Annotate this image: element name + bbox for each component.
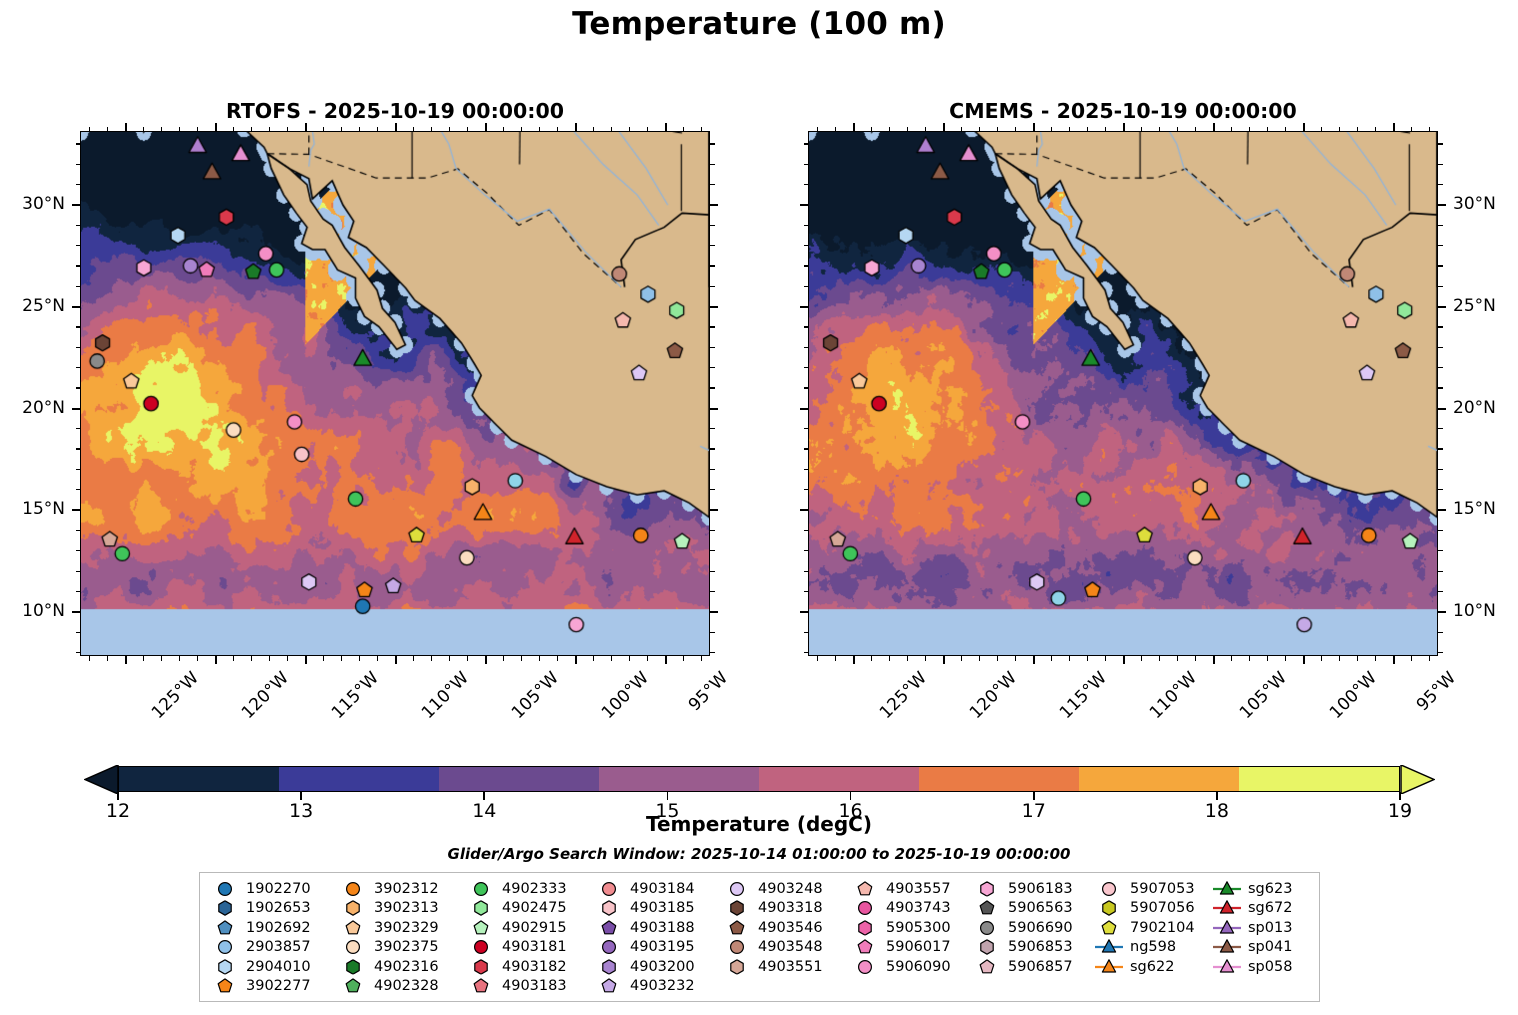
y-tick-minor	[804, 143, 809, 144]
legend-item[interactable]: sp058	[1210, 957, 1308, 977]
y-tick-minor	[710, 387, 715, 388]
y-tick-minor	[710, 448, 715, 449]
legend-item[interactable]: 3902277	[208, 977, 336, 997]
x-tick-minor	[251, 656, 252, 661]
y-tick-minor	[710, 469, 715, 470]
x-tick-minor	[413, 127, 414, 132]
x-tick-minor	[161, 127, 162, 132]
y-tick-minor	[804, 652, 809, 653]
x-tick-minor	[557, 127, 558, 132]
y-tick-minor	[710, 245, 715, 246]
map-cmems[interactable]	[808, 131, 1438, 656]
legend-item[interactable]: 4903548	[720, 938, 848, 958]
legend-item-label: 4903557	[882, 881, 951, 897]
y-tick-minor	[804, 367, 809, 368]
legend-item[interactable]: 4902915	[464, 918, 592, 938]
legend-item-label: 4903183	[498, 978, 567, 994]
x-tick-minor	[1267, 127, 1268, 132]
y-tick-minor	[1438, 428, 1443, 429]
legend-item[interactable]: 2903857	[208, 938, 336, 958]
colorbar-band-3	[599, 767, 759, 791]
legend-item[interactable]: 5906853	[970, 938, 1092, 958]
colorbar-tick	[1399, 792, 1401, 800]
legend-item-label: 4903185	[626, 900, 695, 916]
legend-item[interactable]: 5906563	[970, 899, 1092, 919]
x-tick-minor	[377, 656, 378, 661]
y-tick-major	[72, 204, 80, 206]
circle-marker-icon	[464, 879, 498, 898]
x-tick-minor	[197, 656, 198, 661]
x-tick-minor	[1141, 127, 1142, 132]
legend-item[interactable]: 4903551	[720, 957, 848, 977]
legend-item-label: 5907056	[1126, 900, 1195, 916]
y-tick-major	[1438, 306, 1446, 308]
pentagon-marker-icon	[464, 977, 498, 996]
circle-marker-icon	[848, 957, 882, 976]
circle-marker-icon	[336, 938, 370, 957]
x-tick-major	[575, 123, 577, 131]
hexagon-marker-icon	[720, 957, 754, 976]
legend-item[interactable]: 2904010	[208, 957, 336, 977]
x-tick-minor	[539, 656, 540, 661]
y-tick-minor	[1438, 489, 1443, 490]
y-tick-label: 25°N	[1453, 296, 1518, 316]
x-tick-minor	[1141, 656, 1142, 661]
legend-column-6: 59061835906563590669059068535906857	[970, 879, 1092, 996]
x-tick-minor	[701, 656, 702, 661]
y-tick-minor	[804, 164, 809, 165]
x-tick-major	[395, 123, 397, 131]
x-tick-minor	[889, 127, 890, 132]
y-tick-minor	[1438, 164, 1443, 165]
x-tick-major	[1123, 656, 1125, 664]
hexagon-marker-icon	[848, 918, 882, 937]
legend-item-label: 4902316	[370, 959, 439, 975]
x-tick-minor	[817, 656, 818, 661]
legend-item[interactable]: 5906690	[970, 918, 1092, 938]
x-tick-label: 125°W	[148, 668, 203, 723]
x-tick-minor	[1105, 656, 1106, 661]
colorbar-band-1	[279, 767, 439, 791]
triangle-marker-icon	[1210, 918, 1244, 937]
y-tick-minor	[76, 652, 81, 653]
y-tick-major	[1438, 611, 1446, 613]
y-tick-major	[800, 306, 808, 308]
legend-item[interactable]: 1902692	[208, 918, 336, 938]
x-tick-minor	[1105, 127, 1106, 132]
colorbar-band-7	[1239, 767, 1399, 791]
legend-item[interactable]: 5907056	[1092, 899, 1210, 919]
legend-item-label: 4903181	[498, 939, 567, 955]
x-tick-minor	[89, 127, 90, 132]
y-tick-minor	[1438, 286, 1443, 287]
y-tick-major	[1438, 408, 1446, 410]
x-tick-minor	[1195, 656, 1196, 661]
x-tick-label: 95°W	[1413, 668, 1460, 715]
y-tick-minor	[1438, 184, 1443, 185]
triangle-marker-icon	[1210, 957, 1244, 976]
x-tick-minor	[467, 656, 468, 661]
y-tick-minor	[804, 571, 809, 572]
x-tick-minor	[521, 127, 522, 132]
circle-marker-icon	[208, 938, 242, 957]
y-tick-minor	[1438, 550, 1443, 551]
pentagon-marker-icon	[336, 977, 370, 996]
y-tick-minor	[710, 428, 715, 429]
y-tick-minor	[1438, 265, 1443, 266]
x-tick-major	[853, 656, 855, 664]
legend-item-label: 5905300	[882, 920, 951, 936]
legend-item-label: 4902333	[498, 881, 567, 897]
y-tick-minor	[804, 428, 809, 429]
x-tick-minor	[1249, 127, 1250, 132]
y-tick-minor	[1438, 530, 1443, 531]
legend-item[interactable]: sg672	[1210, 899, 1308, 919]
x-tick-minor	[143, 127, 144, 132]
legend-item[interactable]: 4903318	[720, 899, 848, 919]
pentagon-marker-icon	[848, 879, 882, 898]
legend-column-0: 1902270190265319026922903857290401039022…	[208, 879, 336, 996]
legend-item-label: 5906183	[1004, 881, 1073, 897]
legend-item[interactable]: 4902328	[336, 977, 464, 997]
y-tick-minor	[76, 530, 81, 531]
y-tick-major	[72, 306, 80, 308]
y-tick-minor	[710, 347, 715, 348]
legend-item[interactable]: 4903188	[592, 918, 720, 938]
x-tick-minor	[835, 127, 836, 132]
colorbar-tick	[300, 792, 302, 800]
map-rtofs[interactable]	[80, 131, 710, 656]
x-tick-minor	[521, 656, 522, 661]
x-tick-minor	[889, 656, 890, 661]
x-tick-minor	[1087, 127, 1088, 132]
x-tick-major	[215, 656, 217, 664]
legend-item-label: sg623	[1244, 881, 1292, 897]
legend-item-label: sg622	[1126, 959, 1174, 975]
legend-item-label: 4902475	[498, 900, 567, 916]
x-tick-minor	[1159, 127, 1160, 132]
colorbar-bands	[118, 766, 1400, 792]
legend-column-2: 4902333490247549029154903181490318249031…	[464, 879, 592, 996]
x-tick-minor	[1195, 127, 1196, 132]
x-tick-minor	[1375, 656, 1376, 661]
x-tick-major	[215, 123, 217, 131]
legend-item-label: 3902329	[370, 920, 439, 936]
legend-item-label: 5906853	[1004, 939, 1073, 955]
hexagon-marker-icon	[1092, 899, 1126, 918]
x-tick-major	[1393, 656, 1395, 664]
legend-item[interactable]: 4902475	[464, 899, 592, 919]
y-tick-minor	[1438, 632, 1443, 633]
legend-item-label: 1902692	[242, 920, 311, 936]
x-tick-minor	[1177, 656, 1178, 661]
legend-item[interactable]: 3902313	[336, 899, 464, 919]
x-tick-minor	[1411, 127, 1412, 132]
y-tick-minor	[710, 571, 715, 572]
x-tick-label: 110°W	[418, 668, 473, 723]
legend-item[interactable]: 5906017	[848, 938, 970, 958]
hexagon-marker-icon	[208, 957, 242, 976]
legend-item[interactable]: sg623	[1210, 879, 1308, 899]
map-panel-cmems: CMEMS - 2025-10-19 00:00:00 125°W120°W11…	[808, 131, 1438, 656]
x-tick-minor	[979, 127, 980, 132]
legend-item[interactable]: 4902316	[336, 957, 464, 977]
x-tick-minor	[503, 127, 504, 132]
y-tick-minor	[710, 225, 715, 226]
y-tick-major	[72, 611, 80, 613]
hexagon-marker-icon	[592, 957, 626, 976]
y-tick-minor	[710, 164, 715, 165]
x-tick-minor	[323, 656, 324, 661]
x-tick-major	[1033, 123, 1035, 131]
x-tick-minor	[449, 656, 450, 661]
y-tick-label: 10°N	[1453, 601, 1518, 621]
y-tick-minor	[76, 225, 81, 226]
search-window-text: Glider/Argo Search Window: 2025-10-14 01…	[0, 845, 1518, 863]
x-tick-major	[1123, 123, 1125, 131]
y-tick-major	[800, 611, 808, 613]
x-tick-minor	[961, 656, 962, 661]
legend-item[interactable]: sp041	[1210, 938, 1308, 958]
y-tick-major	[710, 306, 718, 308]
x-tick-minor	[907, 127, 908, 132]
panel-title-rtofs: RTOFS - 2025-10-19 00:00:00	[80, 99, 710, 123]
y-tick-minor	[710, 143, 715, 144]
colorbar-band-2	[439, 767, 599, 791]
x-tick-minor	[431, 656, 432, 661]
x-tick-minor	[557, 656, 558, 661]
legend-item[interactable]: 4903185	[592, 899, 720, 919]
triangle-marker-icon	[1210, 899, 1244, 918]
legend-item[interactable]: 3902312	[336, 879, 464, 899]
legend-item-label: 2903857	[242, 939, 311, 955]
x-tick-minor	[341, 127, 342, 132]
legend-item-label: sp058	[1244, 959, 1292, 975]
x-tick-major	[125, 656, 127, 664]
legend-item[interactable]: 4903184	[592, 879, 720, 899]
x-tick-minor	[1429, 656, 1430, 661]
y-tick-minor	[710, 265, 715, 266]
y-tick-minor	[804, 448, 809, 449]
y-tick-major	[72, 509, 80, 511]
legend-item-label: 2904010	[242, 959, 311, 975]
pentagon-marker-icon	[848, 938, 882, 957]
legend-item[interactable]: 5905300	[848, 918, 970, 938]
pentagon-marker-icon	[720, 918, 754, 937]
legend-item[interactable]: 1902653	[208, 899, 336, 919]
y-tick-label: 20°N	[0, 398, 65, 418]
x-tick-minor	[503, 656, 504, 661]
circle-marker-icon	[720, 879, 754, 898]
legend-item[interactable]: sp013	[1210, 918, 1308, 938]
y-tick-minor	[804, 347, 809, 348]
y-tick-label: 10°N	[0, 601, 65, 621]
legend-item[interactable]: 4903181	[464, 938, 592, 958]
x-tick-major	[1303, 656, 1305, 664]
y-tick-minor	[710, 489, 715, 490]
pentagon-marker-icon	[464, 918, 498, 937]
legend-item[interactable]: 4903743	[848, 899, 970, 919]
legend-item-label: 4903200	[626, 959, 695, 975]
hexagon-marker-icon	[592, 899, 626, 918]
x-tick-minor	[1429, 127, 1430, 132]
legend-item-label: sp013	[1244, 920, 1292, 936]
x-tick-major	[665, 656, 667, 664]
legend-column-5: 49035574903743590530059060175906090	[848, 879, 970, 996]
y-tick-minor	[76, 632, 81, 633]
y-tick-major	[72, 408, 80, 410]
y-tick-minor	[804, 387, 809, 388]
legend-item[interactable]: 3902375	[336, 938, 464, 958]
colorbar-tick	[850, 792, 852, 800]
x-tick-minor	[611, 127, 612, 132]
legend-item[interactable]: 4903183	[464, 977, 592, 997]
x-tick-label: 100°W	[598, 668, 653, 723]
legend-item[interactable]: 4903557	[848, 879, 970, 899]
y-tick-minor	[804, 326, 809, 327]
y-tick-minor	[76, 591, 81, 592]
hexagon-marker-icon	[336, 957, 370, 976]
y-tick-minor	[710, 286, 715, 287]
x-tick-minor	[1411, 656, 1412, 661]
legend-item[interactable]: 4903182	[464, 957, 592, 977]
legend-item-label: 3902312	[370, 881, 439, 897]
y-tick-minor	[804, 225, 809, 226]
y-tick-minor	[76, 367, 81, 368]
y-tick-minor	[76, 164, 81, 165]
y-tick-minor	[710, 652, 715, 653]
triangle-marker-icon	[1210, 879, 1244, 898]
x-tick-major	[1303, 123, 1305, 131]
legend-item[interactable]: 4902333	[464, 879, 592, 899]
pentagon-marker-icon	[592, 918, 626, 937]
x-tick-minor	[701, 127, 702, 132]
legend-item-label: 4903232	[626, 978, 695, 994]
x-tick-minor	[997, 127, 998, 132]
legend-item[interactable]: sg622	[1092, 957, 1210, 977]
x-tick-label: 120°W	[238, 668, 293, 723]
x-tick-minor	[961, 127, 962, 132]
x-tick-minor	[629, 656, 630, 661]
legend-item[interactable]: 4903200	[592, 957, 720, 977]
y-tick-minor	[804, 591, 809, 592]
legend-item[interactable]: 3902329	[336, 918, 464, 938]
x-tick-minor	[1177, 127, 1178, 132]
x-tick-minor	[251, 127, 252, 132]
x-tick-minor	[143, 656, 144, 661]
colorbar-tick	[483, 792, 485, 800]
y-tick-minor	[76, 245, 81, 246]
colorbar[interactable]	[118, 766, 1400, 792]
y-tick-label: 25°N	[0, 296, 65, 316]
legend-item-label: 4903551	[754, 959, 823, 975]
x-tick-major	[1213, 656, 1215, 664]
x-tick-label: 100°W	[1326, 668, 1381, 723]
legend-item[interactable]: 5906090	[848, 957, 970, 977]
x-tick-label: 110°W	[1146, 668, 1201, 723]
legend-item[interactable]: ng598	[1092, 938, 1210, 958]
x-tick-minor	[593, 656, 594, 661]
x-tick-minor	[179, 656, 180, 661]
legend-item-label: 5906563	[1004, 900, 1073, 916]
x-tick-minor	[107, 656, 108, 661]
legend-item[interactable]: 1902270	[208, 879, 336, 899]
y-tick-label: 15°N	[1453, 499, 1518, 519]
x-tick-label: 95°W	[685, 668, 732, 715]
y-tick-major	[800, 509, 808, 511]
x-tick-minor	[835, 656, 836, 661]
y-tick-major	[800, 408, 808, 410]
x-tick-label: 105°W	[1236, 668, 1291, 723]
pentagon-marker-icon	[970, 899, 1004, 918]
legend-item[interactable]: 4903195	[592, 938, 720, 958]
circle-marker-icon	[1092, 879, 1126, 898]
x-tick-major	[943, 656, 945, 664]
legend-item[interactable]: 5906183	[970, 879, 1092, 899]
y-tick-label: 20°N	[1453, 398, 1518, 418]
x-tick-major	[395, 656, 397, 664]
legend-item-label: 4902328	[370, 978, 439, 994]
colorbar-label: Temperature (degC)	[0, 812, 1518, 836]
x-tick-minor	[1231, 656, 1232, 661]
legend-item-label: 5907053	[1126, 881, 1195, 897]
x-tick-minor	[817, 127, 818, 132]
x-tick-minor	[1321, 656, 1322, 661]
page-title: Temperature (100 m)	[0, 6, 1518, 42]
y-tick-minor	[1438, 326, 1443, 327]
legend-item-label: 3902277	[242, 978, 311, 994]
x-tick-major	[1213, 123, 1215, 131]
legend-item-label: sg672	[1244, 900, 1292, 916]
circle-marker-icon	[720, 938, 754, 957]
x-tick-minor	[647, 127, 648, 132]
legend-item[interactable]: 7902104	[1092, 918, 1210, 938]
x-tick-minor	[925, 127, 926, 132]
legend-column-3: 4903184490318549031884903195490320049032…	[592, 879, 720, 996]
colorbar-band-5	[919, 767, 1079, 791]
x-tick-minor	[1357, 656, 1358, 661]
x-tick-major	[485, 656, 487, 664]
legend-item-label: 1902270	[242, 881, 311, 897]
legend-item[interactable]: 5906857	[970, 957, 1092, 977]
x-tick-minor	[1087, 656, 1088, 661]
x-tick-minor	[1339, 127, 1340, 132]
x-tick-minor	[907, 656, 908, 661]
legend-item[interactable]: 4903248	[720, 879, 848, 899]
y-tick-minor	[76, 265, 81, 266]
legend-item-label: 3902375	[370, 939, 439, 955]
circle-marker-icon	[464, 938, 498, 957]
colorbar-extend-min	[84, 765, 118, 794]
triangle-marker-icon	[1092, 938, 1126, 957]
legend-column-7: 590705359070567902104ng598sg622	[1092, 879, 1210, 996]
map-canvas-rtofs	[81, 132, 709, 655]
x-tick-major	[665, 123, 667, 131]
y-tick-major	[1438, 509, 1446, 511]
legend-item[interactable]: 4903546	[720, 918, 848, 938]
pentagon-marker-icon	[336, 918, 370, 937]
x-tick-minor	[413, 656, 414, 661]
y-tick-minor	[710, 632, 715, 633]
legend-item[interactable]: 5907053	[1092, 879, 1210, 899]
map-canvas-cmems	[809, 132, 1437, 655]
pentagon-marker-icon	[970, 957, 1004, 976]
legend-item[interactable]: 4903232	[592, 977, 720, 997]
x-tick-minor	[871, 656, 872, 661]
colorbar-extend-max	[1400, 765, 1434, 794]
y-tick-minor	[1438, 652, 1443, 653]
map-panel-rtofs: RTOFS - 2025-10-19 00:00:00 125°W120°W11…	[80, 131, 710, 656]
